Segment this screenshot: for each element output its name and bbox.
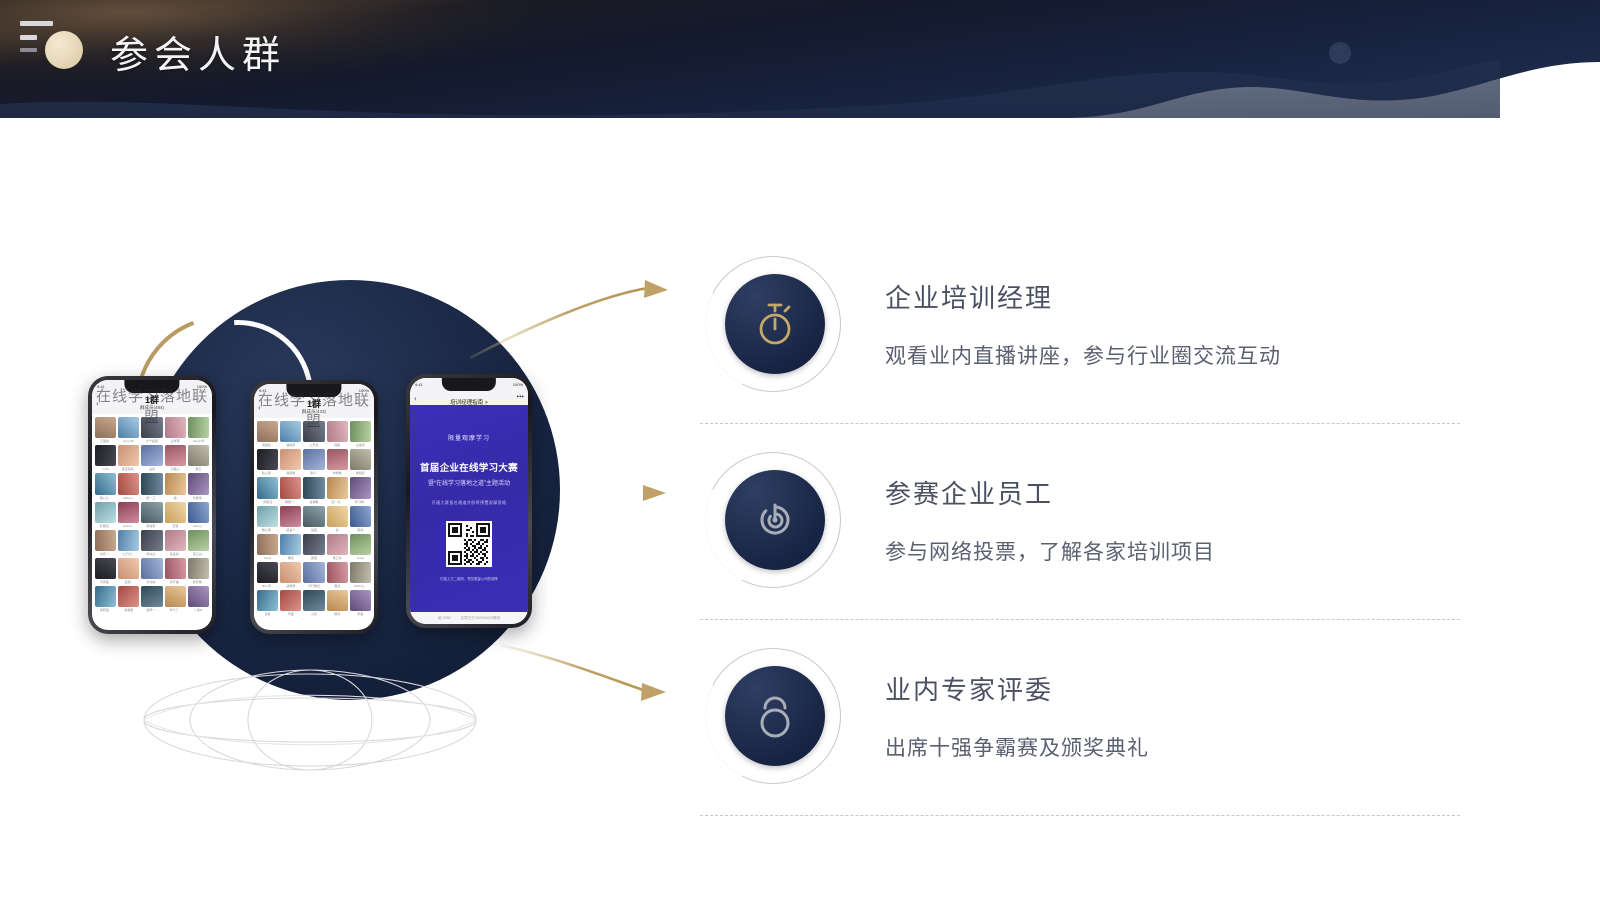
avatar xyxy=(141,530,162,551)
member-name: 朝阳一... xyxy=(285,500,297,504)
avatar xyxy=(95,502,116,523)
member-name: 爱丽... xyxy=(125,580,134,584)
member-name: 暖心心... xyxy=(100,496,112,500)
stopwatch-icon xyxy=(752,299,798,349)
avatar xyxy=(95,417,116,438)
phone-notch xyxy=(442,378,496,391)
list-item[interactable]: 企业培训经理 观看业内直播讲座，参与行业圈交流互动 xyxy=(700,228,1480,424)
avatar xyxy=(327,562,348,583)
member-cell[interactable]: 包晨旭... xyxy=(165,530,186,556)
avatar xyxy=(280,562,301,583)
item-description: 出席十强争霸赛及颁奖典礼 xyxy=(885,734,1149,762)
avatar xyxy=(303,534,324,555)
member-name: 刘冰凌... xyxy=(146,552,158,556)
member-cell[interactable]: 晴风 xyxy=(327,590,348,616)
member-cell[interactable]: 学想教 xyxy=(327,449,348,475)
arrow-to-item-3 xyxy=(500,645,666,701)
avatar xyxy=(280,506,301,527)
avatar xyxy=(141,558,162,579)
avatar xyxy=(303,449,324,470)
logo-bar-2 xyxy=(20,35,37,40)
member-cell[interactable]: 私心家... xyxy=(257,449,278,475)
member-grid-2: 海星站...我的家上开泰陆星白金界私心家...我家教浅行...学想教季如影问思远… xyxy=(254,418,374,619)
avatar xyxy=(165,417,186,438)
avatar xyxy=(303,421,324,442)
status-time: 9:41 xyxy=(415,382,423,387)
member-cell[interactable]: Clyva xyxy=(257,534,278,560)
avatar xyxy=(303,477,324,498)
unlocked-padlock-icon xyxy=(753,691,797,741)
member-cell[interactable]: Yi Xu xyxy=(95,445,116,471)
member-cell[interactable]: 彩 xyxy=(327,506,348,532)
member-name: 凌寒 xyxy=(149,467,155,471)
avatar xyxy=(257,506,278,527)
member-cell[interactable]: 学习了... xyxy=(165,586,186,612)
phone-notch xyxy=(286,384,341,397)
member-name: 仁行大... xyxy=(123,552,135,556)
member-name: 静 xyxy=(174,496,177,500)
item-text: 企业培训经理 观看业内直播讲座，参与行业圈交流互动 xyxy=(885,282,1281,370)
member-name: 白金界 xyxy=(356,443,365,447)
group-name: 1群 xyxy=(92,395,212,405)
member-cell[interactable]: 学习明... xyxy=(350,477,371,503)
avatar xyxy=(327,534,348,555)
icon-badge xyxy=(705,452,845,592)
item-title: 参赛企业员工 xyxy=(885,478,1215,512)
member-name: Amy Shi xyxy=(123,439,134,443)
avatar xyxy=(118,502,139,523)
avatar xyxy=(118,530,139,551)
logo-bar-3 xyxy=(20,48,37,52)
avatar xyxy=(350,590,371,611)
member-name: 笔口木 xyxy=(333,556,342,560)
member-name: 水花一... xyxy=(100,552,112,556)
member-name: 世界一... xyxy=(146,608,158,612)
member-cell[interactable]: 仁行大... xyxy=(118,530,139,556)
member-cell[interactable]: 上开泰 xyxy=(303,421,324,447)
member-cell[interactable]: Amy Shi xyxy=(118,417,139,443)
member-cell[interactable]: 蓝博教 xyxy=(303,477,324,503)
power-target-icon xyxy=(752,497,798,543)
member-grid-1: 王国的...Amy Shi千千和起彭学院Neo小乔Yi Xu蓝宝宝地...凌寒引… xyxy=(92,414,212,615)
item-text: 参赛企业员工 参与网络投票，了解各家培训项目 xyxy=(885,478,1215,566)
avatar xyxy=(95,586,116,607)
avatar xyxy=(327,421,348,442)
member-cell[interactable]: 我家教 xyxy=(280,449,301,475)
member-name: 远夏 xyxy=(265,612,271,616)
member-cell[interactable]: 春晓色... xyxy=(95,586,116,612)
member-name: 清行谦... xyxy=(169,580,181,584)
logo-bar-1 xyxy=(20,21,53,26)
status-time: 9:41 xyxy=(97,384,105,389)
member-name: 蓝博教 xyxy=(309,500,318,504)
member-name: 引路人 xyxy=(171,467,180,471)
member-name: 王珊 xyxy=(172,524,178,528)
member-name: 问思远 xyxy=(263,500,272,504)
member-name: 蓝宝宝地... xyxy=(122,467,137,471)
member-cell[interactable]: 朝阳一... xyxy=(280,477,301,503)
avatar xyxy=(350,477,371,498)
avatar xyxy=(188,473,209,494)
member-cell[interactable]: 王国的... xyxy=(95,417,116,443)
avatar xyxy=(165,473,186,494)
member-name: 季如影 xyxy=(356,471,365,475)
chevron-left-icon[interactable]: ‹ xyxy=(414,394,417,403)
avatar xyxy=(141,502,162,523)
member-name: 王国的... xyxy=(100,439,112,443)
member-name: JACK上... xyxy=(354,584,367,588)
member-name: 长者张... xyxy=(193,496,205,500)
member-cell[interactable]: 华盛 xyxy=(280,590,301,616)
member-name: 包晨旭... xyxy=(169,552,181,556)
avatar xyxy=(165,530,186,551)
avatar xyxy=(188,417,209,438)
member-cell[interactable]: HeLuo... xyxy=(118,502,139,528)
member-name: 学美 xyxy=(357,612,363,616)
avatar xyxy=(95,445,116,466)
arrow-to-item-1 xyxy=(470,280,668,358)
avatar xyxy=(188,502,209,523)
avatar xyxy=(188,530,209,551)
page-title: 参会人群 xyxy=(110,24,286,79)
gold-circle-icon xyxy=(45,31,83,69)
avatar xyxy=(280,421,301,442)
member-cell[interactable]: Harlem... xyxy=(118,473,139,499)
status-battery: 100% xyxy=(513,382,523,387)
chevron-left-icon[interactable]: ‹ xyxy=(258,403,261,412)
member-cell[interactable]: 红艳花... xyxy=(95,502,116,528)
member-name: 陈口山... xyxy=(193,552,205,556)
avatar xyxy=(350,421,371,442)
avatar xyxy=(141,417,162,438)
member-cell[interactable]: 陆星 xyxy=(327,421,348,447)
item-title: 企业培训经理 xyxy=(885,282,1281,316)
avatar xyxy=(280,477,301,498)
member-name: 清北青... xyxy=(146,580,158,584)
phone-navbar: ‹ 1群 群成员(433) xyxy=(254,397,374,418)
member-name: Anya xyxy=(357,556,364,560)
icon-badge xyxy=(705,648,845,788)
avatar xyxy=(118,473,139,494)
member-cell[interactable]: 我的家 xyxy=(280,421,301,447)
phone-notch xyxy=(124,380,179,393)
member-name: Clyva xyxy=(264,556,272,560)
avatar xyxy=(95,473,116,494)
phone-navbar: ‹ 1群 群成员(494) xyxy=(92,393,212,414)
member-name: 学习了... xyxy=(169,608,181,612)
member-cell[interactable]: 陈材 xyxy=(350,506,371,532)
member-cell[interactable]: 爱丽... xyxy=(118,558,139,584)
member-name: 学习明... xyxy=(355,500,367,504)
avatar xyxy=(141,473,162,494)
avatar xyxy=(303,506,324,527)
member-name: 教育重... xyxy=(193,580,205,584)
member-name: 晨第个 xyxy=(286,528,295,532)
member-cell[interactable]: 最强 xyxy=(303,506,324,532)
avatar xyxy=(327,590,348,611)
member-name: 我家教 xyxy=(286,471,295,475)
member-cell[interactable]: 翟一三... xyxy=(141,473,162,499)
avatar xyxy=(118,586,139,607)
member-cell[interactable]: MIC-传... xyxy=(257,562,278,588)
list-item[interactable]: 业内专家评委 出席十强争霸赛及颁奖典礼 xyxy=(700,620,1480,816)
arrow-to-item-2 xyxy=(544,485,666,501)
member-cell[interactable]: 战能教 xyxy=(280,562,301,588)
member-cell[interactable]: 彩艳霞 xyxy=(118,586,139,612)
member-cell[interactable]: 学美 xyxy=(350,590,371,616)
member-name: HeLuo... xyxy=(123,524,134,528)
member-name: 战能教 xyxy=(286,584,295,588)
member-cell[interactable]: 教育重... xyxy=(188,558,209,584)
icon-badge xyxy=(705,256,845,396)
member-cell[interactable]: 静 xyxy=(165,473,186,499)
member-cell[interactable]: 小彩 xyxy=(303,590,324,616)
member-cell[interactable]: 行行网企 xyxy=(303,562,324,588)
avatar xyxy=(303,562,324,583)
member-name: 浅行... xyxy=(310,471,319,475)
member-name: 陈材 xyxy=(357,528,363,532)
member-name: 森建 xyxy=(334,584,340,588)
avatar xyxy=(327,449,348,470)
member-name: 区一天... xyxy=(331,500,343,504)
member-name: 彩 xyxy=(336,528,339,532)
member-cell[interactable]: JACK上... xyxy=(350,562,371,588)
member-cell[interactable]: 白金界 xyxy=(350,421,371,447)
member-name: 千千和起 xyxy=(146,439,158,443)
avatar xyxy=(257,477,278,498)
member-cell[interactable]: 陈口山... xyxy=(188,530,209,556)
member-cell[interactable]: 远夏 xyxy=(257,590,278,616)
member-name: 彩艳霞 xyxy=(124,608,133,612)
avatar xyxy=(188,445,209,466)
item-description: 观看业内直播讲座，参与行业圈交流互动 xyxy=(885,342,1281,370)
member-name: 南城安... xyxy=(146,524,158,528)
member-cell[interactable]: 水花一... xyxy=(95,530,116,556)
member-name: 陆星 xyxy=(334,443,340,447)
member-cell[interactable]: 刘冰凌... xyxy=(141,530,162,556)
member-cell[interactable]: 笔口木 xyxy=(327,534,348,560)
member-cell[interactable]: 彭学院 xyxy=(165,417,186,443)
avatar xyxy=(350,534,371,555)
avatar xyxy=(350,449,371,470)
member-name: 彭学院 xyxy=(171,439,180,443)
avatar xyxy=(327,477,348,498)
avatar xyxy=(257,590,278,611)
group-member-count: 群成员(494) xyxy=(92,405,212,411)
icon-disc xyxy=(725,666,825,766)
avatar xyxy=(280,449,301,470)
member-cell[interactable]: 稀德 xyxy=(280,534,301,560)
member-cell[interactable]: Anya xyxy=(350,534,371,560)
avatar xyxy=(257,449,278,470)
member-name: Harlem... xyxy=(123,496,135,500)
arrow-group xyxy=(440,230,720,750)
member-cell[interactable]: 问思远 xyxy=(257,477,278,503)
avatar xyxy=(350,506,371,527)
member-cell[interactable]: 翼璐 xyxy=(303,534,324,560)
avatar xyxy=(95,530,116,551)
member-name: 粉心家... xyxy=(262,528,274,532)
status-battery: 100% xyxy=(197,384,207,389)
member-cell[interactable]: 粉心家... xyxy=(257,506,278,532)
item-divider xyxy=(700,815,1460,816)
avatar xyxy=(188,558,209,579)
icon-disc xyxy=(725,470,825,570)
avatar xyxy=(141,586,162,607)
avatar xyxy=(141,445,162,466)
member-name: 最强 xyxy=(311,528,317,532)
member-name: 海星站... xyxy=(262,443,274,447)
member-cell[interactable]: 凌寒 xyxy=(141,445,162,471)
member-cell[interactable]: 森建 xyxy=(327,562,348,588)
member-cell[interactable]: 长者张... xyxy=(188,473,209,499)
member-name: Neo小乔 xyxy=(193,439,205,443)
group-name: 1群 xyxy=(254,399,374,409)
slide-header: 参会人群 xyxy=(0,0,1600,118)
member-name: 翟一三... xyxy=(146,496,158,500)
member-cell[interactable]: 浅行... xyxy=(303,449,324,475)
status-time: 9:41 xyxy=(259,388,267,393)
avatar xyxy=(165,445,186,466)
group-member-count: 群成员(433) xyxy=(254,409,374,415)
avatar xyxy=(118,445,139,466)
member-cell[interactable]: 引路人 xyxy=(165,445,186,471)
member-cell[interactable]: 王珊 xyxy=(165,502,186,528)
member-cell[interactable]: 区一天... xyxy=(327,477,348,503)
avatar xyxy=(280,590,301,611)
member-name: Fanny... xyxy=(193,524,204,528)
member-cell[interactable]: 蓝宝宝地... xyxy=(118,445,139,471)
avatar xyxy=(257,534,278,555)
audience-list: 企业培训经理 观看业内直播讲座，参与行业圈交流互动 xyxy=(700,228,1480,816)
phone-group-members-1[interactable]: 9:41 100% ‹ 1群 群成员(494) 在线学习落地联盟 王国的...A… xyxy=(88,376,216,634)
member-name: 上开泰 xyxy=(309,443,318,447)
avatar xyxy=(95,558,116,579)
member-cell[interactable]: 暖心心... xyxy=(95,473,116,499)
avatar xyxy=(165,502,186,523)
member-name: Yi Xu xyxy=(102,467,109,471)
avatar xyxy=(257,562,278,583)
avatar xyxy=(350,562,371,583)
member-cell[interactable]: 季如影 xyxy=(350,449,371,475)
member-name: 晴风 xyxy=(334,612,340,616)
chevron-left-icon[interactable]: ‹ xyxy=(96,399,99,408)
member-cell[interactable]: Neo小乔 xyxy=(188,417,209,443)
member-cell[interactable]: 南城安... xyxy=(141,502,162,528)
member-cell[interactable]: 世界一... xyxy=(141,586,162,612)
member-cell[interactable]: 千千和起 xyxy=(141,417,162,443)
avatar xyxy=(327,506,348,527)
avatar xyxy=(257,421,278,442)
member-cell[interactable]: 清行谦... xyxy=(165,558,186,584)
avatar xyxy=(118,558,139,579)
member-name: 翼璐 xyxy=(311,556,317,560)
avatar xyxy=(188,586,209,607)
member-name: 私心家... xyxy=(262,471,274,475)
member-cell[interactable]: × 用户 xyxy=(188,586,209,612)
member-name: 吴云 xyxy=(195,467,201,471)
member-name: 小彩 xyxy=(311,612,317,616)
member-name: 稀德 xyxy=(288,556,294,560)
member-cell[interactable]: 吴云 xyxy=(188,445,209,471)
list-item[interactable]: 参赛企业员工 参与网络投票，了解各家培训项目 xyxy=(700,424,1480,620)
item-text: 业内专家评委 出席十强争霸赛及颁奖典礼 xyxy=(885,674,1149,762)
member-name: × 用户 xyxy=(194,608,203,612)
status-battery: 100% xyxy=(359,388,369,393)
avatar xyxy=(303,590,324,611)
phone-group-members-2[interactable]: 9:41 100% ‹ 1群 群成员(433) 在线学习落地联盟 海星站...我… xyxy=(250,380,378,634)
member-cell[interactable]: 海星站... xyxy=(257,421,278,447)
member-name: MIC-传... xyxy=(262,584,274,588)
member-name: 我的家 xyxy=(286,443,295,447)
member-cell[interactable]: Fanny... xyxy=(188,502,209,528)
avatar xyxy=(165,586,186,607)
member-name: 平安赢... xyxy=(100,580,112,584)
slide-root: 参会人群 9:41 100% xyxy=(0,0,1600,900)
member-name: 学想教 xyxy=(333,471,342,475)
item-title: 业内专家评委 xyxy=(885,674,1149,708)
member-name: 华盛 xyxy=(288,612,294,616)
member-name: 春晓色... xyxy=(100,608,112,612)
avatar xyxy=(118,417,139,438)
member-name: 行行网企 xyxy=(308,584,320,588)
avatar xyxy=(165,558,186,579)
member-cell[interactable]: 晨第个 xyxy=(280,506,301,532)
member-cell[interactable]: 清北青... xyxy=(141,558,162,584)
member-name: 红艳花... xyxy=(100,524,112,528)
avatar xyxy=(280,534,301,555)
member-cell[interactable]: 平安赢... xyxy=(95,558,116,584)
item-description: 参与网络投票，了解各家培训项目 xyxy=(885,538,1215,566)
icon-disc xyxy=(725,274,825,374)
